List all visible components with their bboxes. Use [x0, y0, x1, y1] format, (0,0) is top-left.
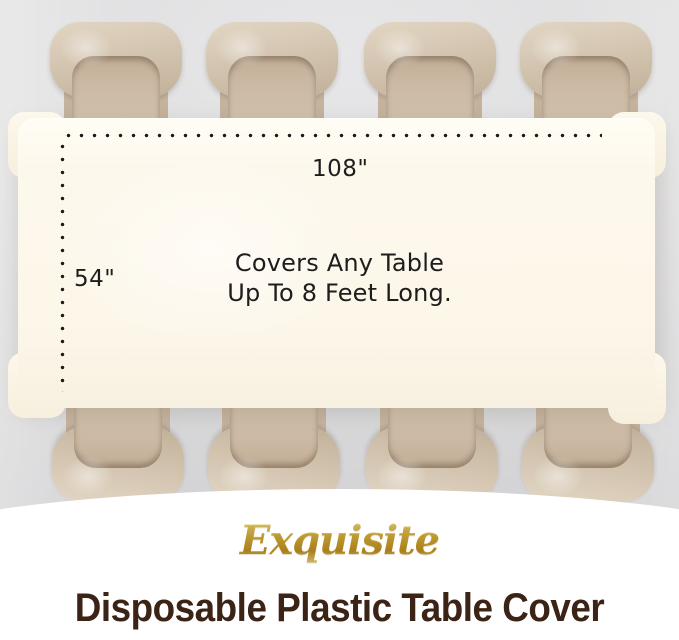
width-dimension-dotted-line — [62, 133, 602, 138]
cloth-caption: Covers Any Table Up To 8 Feet Long. — [0, 248, 679, 308]
cloth-caption-line-2: Up To 8 Feet Long. — [0, 278, 679, 308]
brand-logo: Exquisite — [0, 517, 679, 564]
product-infographic: 108" 54" Covers Any Table Up To 8 Feet L… — [0, 0, 679, 640]
cloth-caption-line-1: Covers Any Table — [0, 248, 679, 278]
width-dimension-label: 108" — [312, 156, 368, 182]
product-title: Disposable Plastic Table Cover — [27, 586, 652, 631]
table-cover: 108" 54" Covers Any Table Up To 8 Feet L… — [0, 0, 679, 525]
